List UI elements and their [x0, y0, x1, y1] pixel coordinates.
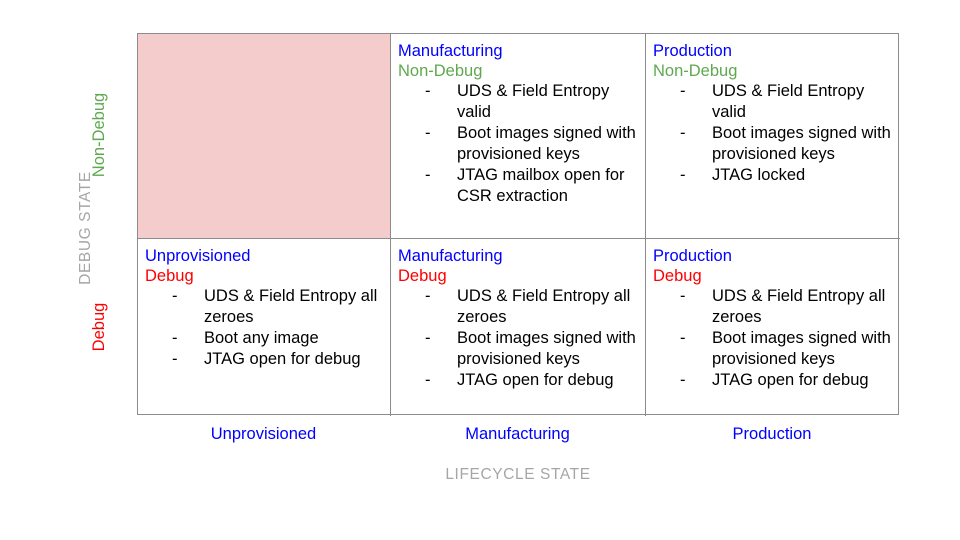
matrix-cell-production-debug: Production Debug -UDS & Field Entropy al…	[646, 239, 900, 416]
list-item-text: Boot images signed with provisioned keys	[712, 124, 891, 163]
list-item: -JTAG open for debug	[398, 370, 639, 391]
list-item: -JTAG open for debug	[653, 370, 894, 391]
bullet-dash-icon: -	[172, 328, 178, 349]
bullet-dash-icon: -	[425, 286, 431, 307]
cell-title: Manufacturing	[398, 41, 639, 61]
cell-title: Production	[653, 41, 894, 61]
cell-bullet-list: -UDS & Field Entropy all zeroes -Boot im…	[398, 286, 639, 391]
list-item-text: UDS & Field Entropy valid	[712, 82, 864, 121]
list-item: -UDS & Field Entropy all zeroes	[145, 286, 384, 328]
list-item: -Boot images signed with provisioned key…	[398, 123, 639, 165]
bullet-dash-icon: -	[425, 370, 431, 391]
cell-bullet-list: -UDS & Field Entropy all zeroes -Boot an…	[145, 286, 384, 370]
list-item-text: Boot images signed with provisioned keys	[457, 124, 636, 163]
x-axis-title: LIFECYCLE STATE	[137, 466, 899, 484]
list-item-text: UDS & Field Entropy all zeroes	[204, 287, 377, 326]
matrix-cell-unprovisioned-non-debug	[138, 34, 391, 239]
bullet-dash-icon: -	[425, 165, 431, 186]
bullet-dash-icon: -	[680, 370, 686, 391]
bullet-dash-icon: -	[425, 123, 431, 144]
cell-title: Unprovisioned	[145, 246, 384, 266]
matrix-grid: Manufacturing Non-Debug -UDS & Field Ent…	[137, 33, 899, 415]
cell-bullet-list: -UDS & Field Entropy valid -Boot images …	[398, 81, 639, 207]
list-item-text: Boot images signed with provisioned keys	[712, 329, 891, 368]
list-item-text: Boot any image	[204, 329, 319, 347]
list-item-text: UDS & Field Entropy all zeroes	[712, 287, 885, 326]
x-axis-category-unprovisioned: Unprovisioned	[137, 425, 390, 444]
bullet-dash-icon: -	[680, 165, 686, 186]
list-item: -UDS & Field Entropy all zeroes	[398, 286, 639, 328]
y-axis-category-non-debug: Non-Debug	[87, 30, 111, 240]
cell-subtitle: Non-Debug	[653, 61, 894, 81]
list-item: -JTAG mailbox open for CSR extraction	[398, 165, 639, 207]
list-item: -Boot images signed with provisioned key…	[653, 123, 894, 165]
cell-title: Manufacturing	[398, 246, 639, 266]
list-item-text: JTAG open for debug	[204, 350, 361, 368]
list-item: -UDS & Field Entropy valid	[653, 81, 894, 123]
list-item-text: JTAG mailbox open for CSR extraction	[457, 166, 625, 205]
list-item-text: JTAG open for debug	[712, 371, 869, 389]
matrix-cell-unprovisioned-debug: Unprovisioned Debug -UDS & Field Entropy…	[138, 239, 391, 416]
list-item-text: JTAG open for debug	[457, 371, 614, 389]
list-item: -Boot images signed with provisioned key…	[398, 328, 639, 370]
bullet-dash-icon: -	[680, 286, 686, 307]
cell-bullet-list: -UDS & Field Entropy all zeroes -Boot im…	[653, 286, 894, 391]
list-item: -JTAG locked	[653, 165, 894, 186]
list-item-text: UDS & Field Entropy all zeroes	[457, 287, 630, 326]
y-axis-category-debug: Debug	[87, 222, 111, 432]
matrix-cell-manufacturing-debug: Manufacturing Debug -UDS & Field Entropy…	[391, 239, 646, 416]
list-item: -Boot images signed with provisioned key…	[653, 328, 894, 370]
list-item: -UDS & Field Entropy all zeroes	[653, 286, 894, 328]
list-item-text: UDS & Field Entropy valid	[457, 82, 609, 121]
bullet-dash-icon: -	[425, 81, 431, 102]
bullet-dash-icon: -	[172, 286, 178, 307]
cell-subtitle: Debug	[145, 266, 384, 286]
matrix-cell-manufacturing-non-debug: Manufacturing Non-Debug -UDS & Field Ent…	[391, 34, 646, 239]
cell-subtitle: Non-Debug	[398, 61, 639, 81]
cell-subtitle: Debug	[398, 266, 639, 286]
matrix-cell-production-non-debug: Production Non-Debug -UDS & Field Entrop…	[646, 34, 900, 239]
list-item: -UDS & Field Entropy valid	[398, 81, 639, 123]
cell-title: Production	[653, 246, 894, 266]
list-item-text: Boot images signed with provisioned keys	[457, 329, 636, 368]
list-item: -Boot any image	[145, 328, 384, 349]
bullet-dash-icon: -	[680, 328, 686, 349]
cell-bullet-list: -UDS & Field Entropy valid -Boot images …	[653, 81, 894, 186]
bullet-dash-icon: -	[680, 123, 686, 144]
lifecycle-debug-state-matrix-slide: { "axes": { "y_title": "DEBUG STATE", "x…	[0, 0, 960, 540]
x-axis-category-manufacturing: Manufacturing	[390, 425, 645, 444]
list-item-text: JTAG locked	[712, 166, 805, 184]
bullet-dash-icon: -	[425, 328, 431, 349]
x-axis-category-production: Production	[645, 425, 899, 444]
bullet-dash-icon: -	[680, 81, 686, 102]
bullet-dash-icon: -	[172, 349, 178, 370]
list-item: -JTAG open for debug	[145, 349, 384, 370]
cell-subtitle: Debug	[653, 266, 894, 286]
